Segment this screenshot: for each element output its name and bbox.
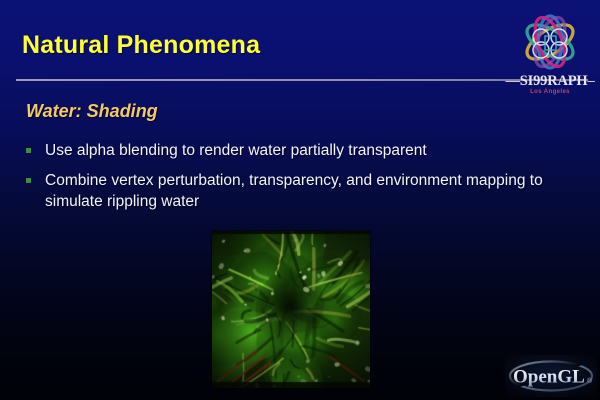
siggraph-locale-label: Los Angeles: [500, 89, 600, 95]
wet-leaves-photo: [212, 231, 370, 388]
opengl-logo: OpenGL ®: [505, 355, 597, 397]
list-item: Use alpha blending to render water parti…: [26, 140, 574, 161]
page-title: Natural Phenomena: [22, 31, 260, 60]
list-item-label: Combine vertex perturbation, transparenc…: [45, 170, 574, 212]
presentation-slide: Natural Phenomena Water: Shading Use alp…: [0, 0, 600, 400]
slide-image: [212, 231, 370, 388]
svg-text:®: ®: [587, 377, 593, 385]
section-subtitle: Water: Shading: [26, 101, 158, 122]
wordmark-text: SI99RAPH: [520, 73, 588, 89]
bullet-list: Use alpha blending to render water parti…: [26, 140, 574, 221]
siggraph-rings-icon: [500, 10, 600, 74]
opengl-logo-icon: OpenGL ®: [505, 355, 597, 397]
list-item-label: Use alpha blending to render water parti…: [45, 140, 574, 161]
svg-text:OpenGL: OpenGL: [513, 367, 585, 388]
siggraph-wordmark: —SI99RAPH–: [500, 74, 600, 89]
wordmark-dash-left: —: [505, 73, 519, 89]
wordmark-dash-right: –: [587, 73, 594, 89]
siggraph-logo: —SI99RAPH– Los Angeles: [500, 10, 600, 102]
list-item: Combine vertex perturbation, transparenc…: [26, 170, 574, 212]
bullet-square-icon: [26, 148, 31, 153]
bullet-square-icon: [26, 178, 31, 183]
